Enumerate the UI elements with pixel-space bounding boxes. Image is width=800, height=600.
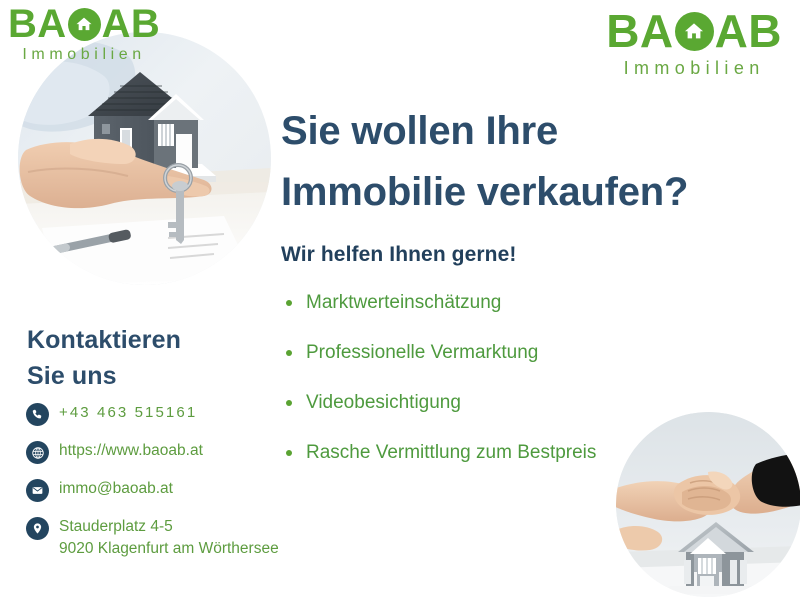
list-item: Marktwerteinschätzung	[282, 292, 596, 342]
contact-row-email[interactable]: immo@baoab.at	[26, 478, 316, 502]
photo-hand-holding-house	[18, 32, 271, 285]
address-city: 9020 Klagenfurt am Wörthersee	[59, 540, 279, 557]
phone-icon	[26, 403, 49, 426]
contact-title-line-2: Sie uns	[27, 358, 181, 394]
contact-details: +43 463 515161 https://www.baoab.at immo…	[26, 402, 316, 574]
headline-line-1: Sie wollen Ihre	[281, 101, 786, 162]
headline-subtitle: Wir helfen Ihnen gerne!	[281, 243, 516, 267]
logo-text-part2: AB	[102, 4, 161, 44]
envelope-icon	[26, 479, 49, 502]
benefit-label: Marktwerteinschätzung	[306, 292, 501, 313]
bullet-dot-icon	[286, 350, 292, 356]
address-street: Stauderplatz 4-5	[59, 518, 173, 535]
logo-text-part2: AB	[715, 8, 782, 54]
globe-icon	[26, 441, 49, 464]
logo-text-part1: BA	[606, 8, 673, 54]
contact-title-line-1: Kontaktieren	[27, 322, 181, 358]
logo-wordmark: BA AB	[8, 4, 160, 44]
logo-wordmark: BA AB	[606, 8, 782, 54]
page-title: Sie wollen Ihre Immobilie verkaufen?	[281, 101, 786, 223]
list-item: Videobesichtigung	[282, 392, 596, 442]
website-url: https://www.baoab.at	[59, 440, 203, 461]
benefit-label: Rasche Vermittlung zum Bestpreis	[306, 442, 596, 463]
contact-row-address[interactable]: Stauderplatz 4-5 9020 Klagenfurt am Wört…	[26, 516, 316, 560]
phone-number: +43 463 515161	[59, 402, 197, 423]
contact-section-title: Kontaktieren Sie uns	[27, 322, 181, 395]
logo-top-right: BA AB Immobilien	[606, 8, 782, 77]
logo-text-part1: BA	[8, 4, 67, 44]
logo-tagline: Immobilien	[8, 47, 160, 63]
benefits-list: Marktwerteinschätzung Professionelle Ver…	[282, 292, 596, 492]
logo-tagline: Immobilien	[606, 59, 782, 77]
contact-row-website[interactable]: https://www.baoab.at	[26, 440, 316, 464]
house-icon	[675, 12, 714, 51]
logo-top-left: BA AB Immobilien	[8, 4, 160, 63]
list-item: Professionelle Vermarktung	[282, 342, 596, 392]
email-address: immo@baoab.at	[59, 478, 173, 499]
house-icon	[68, 8, 101, 41]
photo-handshake	[616, 412, 800, 597]
advertisement-poster: BA AB Immobilien BA AB Immobilien Sie wo…	[0, 0, 800, 600]
address-block: Stauderplatz 4-5 9020 Klagenfurt am Wört…	[59, 516, 279, 560]
bullet-dot-icon	[286, 300, 292, 306]
map-pin-icon	[26, 517, 49, 540]
contact-row-phone[interactable]: +43 463 515161	[26, 402, 316, 426]
list-item: Rasche Vermittlung zum Bestpreis	[282, 442, 596, 492]
benefit-label: Professionelle Vermarktung	[306, 342, 538, 363]
benefit-label: Videobesichtigung	[306, 392, 461, 413]
headline-line-2: Immobilie verkaufen?	[281, 162, 786, 223]
